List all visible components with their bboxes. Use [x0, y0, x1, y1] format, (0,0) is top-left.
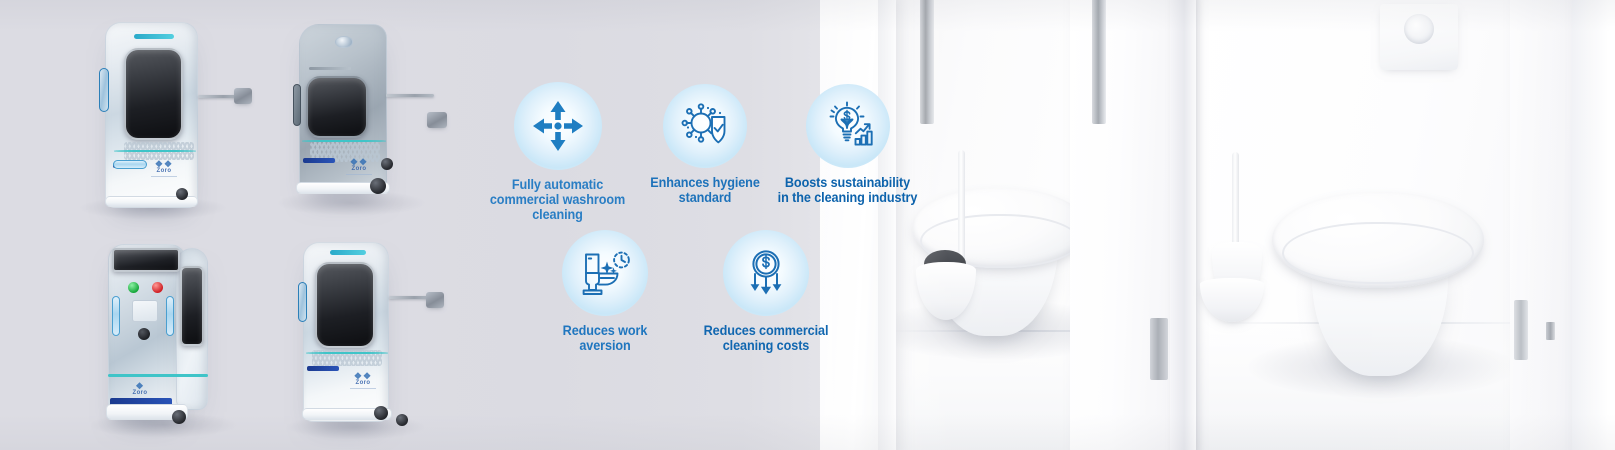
- status-led-red: [152, 282, 163, 293]
- robot-logo-text: Zoro: [157, 168, 172, 174]
- robot-uv-lamp: [112, 296, 120, 336]
- sparkling-toilet-clock-icon: [578, 247, 632, 299]
- stall-door-edge: [1170, 0, 1196, 450]
- robot-cleaning-tool: [234, 88, 252, 104]
- robot-wheel: [396, 414, 408, 426]
- robot-logo-underline: [151, 176, 177, 177]
- benefit-item-fully-automatic[interactable]: Fully automatic commercial washroom clea…: [465, 82, 650, 223]
- door-hinge-icon: [1514, 300, 1528, 360]
- robot-status-strip: [309, 67, 351, 70]
- robot-arm: [389, 296, 431, 299]
- robot-sensor-dome: [335, 36, 353, 48]
- benefit-item-cleaning-costs[interactable]: Reduces commercial cleaning costs: [680, 230, 852, 353]
- four-way-arrows-icon: [531, 99, 585, 153]
- brush-handle: [958, 150, 965, 262]
- virus-shield-check-icon: [679, 100, 731, 152]
- dollar-coin-down-arrows-icon: [740, 247, 792, 299]
- robot-wheel: [381, 158, 393, 170]
- product-gallery: ❖❖ Zoro ❖❖ Zoro: [0, 0, 470, 450]
- robot-accent-line: [114, 150, 196, 152]
- robot-touchscreen[interactable]: [124, 48, 183, 140]
- robot-arm: [386, 94, 434, 97]
- robot-logo-mark: ❖: [120, 382, 160, 390]
- robot-handle[interactable]: [298, 282, 307, 322]
- robot-logo-text: Zoro: [352, 166, 367, 172]
- robot-logo-text: Zoro: [356, 380, 371, 386]
- benefit-icon-bubble: [514, 82, 602, 170]
- robot-uv-lamp: [113, 160, 147, 169]
- robot-cleaning-tool: [427, 112, 447, 128]
- benefit-icon-bubble: [806, 84, 890, 168]
- robot-wheel: [176, 188, 188, 200]
- robot-logo: ❖❖ Zoro: [340, 158, 378, 175]
- robot-status-strip: [330, 250, 366, 255]
- robot-logo-mark: ❖❖: [340, 158, 378, 166]
- robot-accent-line: [302, 140, 386, 142]
- benefit-item-sustainability[interactable]: Boosts sustainability in the cleaning in…: [760, 84, 935, 205]
- toilet-rim: [1282, 222, 1474, 284]
- robot-accent-line: [108, 374, 208, 377]
- robot-logo: ❖ Zoro: [120, 382, 160, 396]
- hero-banner: ❖❖ Zoro ❖❖ Zoro: [0, 0, 1615, 450]
- benefits-group: Fully automatic commercial washroom clea…: [465, 62, 935, 372]
- status-led-green: [128, 282, 139, 293]
- robot-control-panel[interactable]: [132, 300, 158, 322]
- washroom-stalls-photo: [820, 0, 1615, 450]
- robot-logo-underline: [350, 388, 376, 389]
- stall-partition-edge: [1572, 0, 1615, 450]
- robot-logo-underline: [346, 174, 372, 175]
- benefit-label: Fully automatic commercial washroom clea…: [471, 177, 643, 223]
- robot-top-display[interactable]: [112, 248, 180, 272]
- benefit-item-hygiene-standard[interactable]: Enhances hygiene standard: [635, 84, 775, 205]
- benefit-label: Enhances hygiene standard: [640, 175, 770, 205]
- door-hinge-icon: [1150, 318, 1168, 380]
- robot-uv-lamp: [166, 296, 174, 336]
- robot-logo-mark: ❖❖: [145, 160, 183, 168]
- robot-logo-text: Zoro: [133, 390, 148, 396]
- robot-cleaning-tool: [426, 292, 444, 308]
- robot-handle[interactable]: [99, 68, 109, 112]
- robot-handle[interactable]: [293, 84, 301, 126]
- robot-knob[interactable]: [138, 328, 150, 340]
- benefit-icon-bubble: [663, 84, 747, 168]
- benefit-icon-bubble: [723, 230, 809, 316]
- robot-accent-bar: [303, 158, 335, 163]
- door-hinge-icon: [1092, 0, 1106, 124]
- robot-wheel: [172, 410, 186, 424]
- robot-accent-line: [306, 352, 388, 354]
- flush-plate[interactable]: [1380, 4, 1458, 70]
- robot-logo: ❖❖ Zoro: [344, 372, 382, 389]
- lightbulb-dollar-growth-icon: [822, 100, 874, 152]
- robot-logo: ❖❖ Zoro: [145, 160, 183, 177]
- robot-status-strip: [134, 34, 174, 39]
- robot-logo-mark: ❖❖: [344, 372, 382, 380]
- robot-accent-bar: [307, 366, 339, 371]
- benefit-item-work-aversion[interactable]: Reduces work aversion: [525, 230, 685, 353]
- benefit-label: Reduces work aversion: [531, 323, 680, 353]
- benefit-icon-bubble: [562, 230, 648, 316]
- robot-touchscreen[interactable]: [315, 262, 375, 348]
- benefit-label: Reduces commercial cleaning costs: [686, 323, 846, 353]
- door-latch-icon: [1546, 322, 1555, 340]
- benefit-label: Boosts sustainability in the cleaning in…: [766, 175, 929, 205]
- robot-side-window: [180, 266, 204, 346]
- robot-wheel: [374, 406, 388, 420]
- robot-touchscreen[interactable]: [306, 76, 368, 138]
- robot-wheel: [370, 178, 386, 194]
